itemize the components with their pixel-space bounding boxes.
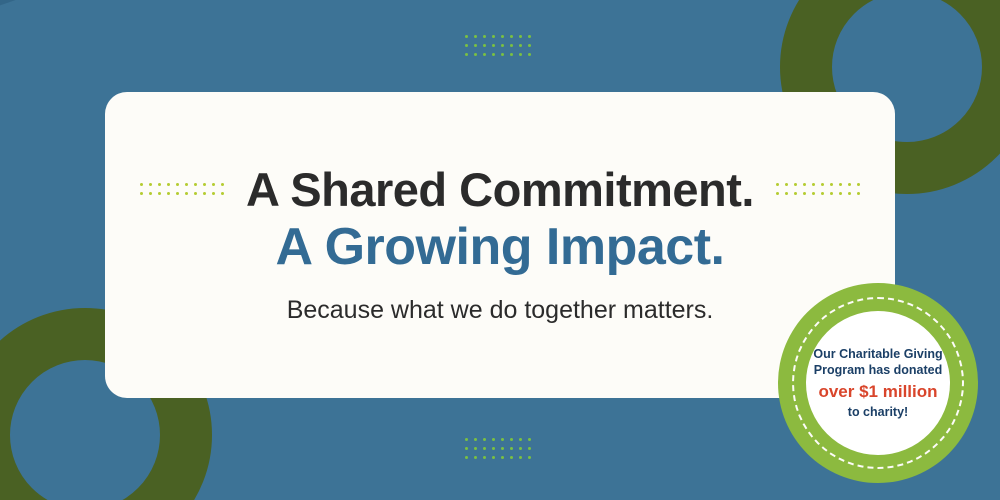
dot — [492, 456, 495, 459]
dot — [510, 35, 513, 38]
dot — [465, 53, 468, 56]
dot — [857, 192, 860, 195]
dot — [510, 438, 513, 441]
dot — [821, 192, 824, 195]
dot — [519, 44, 522, 47]
dot — [830, 192, 833, 195]
dot — [492, 44, 495, 47]
dot — [167, 192, 170, 195]
dot-ornament-right — [776, 183, 860, 195]
dot — [465, 447, 468, 450]
dot — [510, 447, 513, 450]
dot — [776, 192, 779, 195]
dot — [158, 183, 161, 186]
dot — [465, 44, 468, 47]
dot-grid-top — [465, 35, 531, 56]
dot — [474, 53, 477, 56]
dot — [857, 183, 860, 186]
dot — [839, 192, 842, 195]
dot-grid-bottom — [465, 438, 531, 459]
dot — [483, 456, 486, 459]
dot — [492, 438, 495, 441]
dot — [194, 192, 197, 195]
headline-primary-row: A Shared Commitment. — [105, 165, 895, 214]
dot — [528, 44, 531, 47]
headline-primary: A Shared Commitment. — [246, 165, 754, 214]
dot — [519, 35, 522, 38]
dot — [528, 447, 531, 450]
dot — [501, 44, 504, 47]
dot — [510, 456, 513, 459]
dot — [492, 447, 495, 450]
dot — [158, 192, 161, 195]
dot — [501, 438, 504, 441]
dot — [203, 183, 206, 186]
dot — [483, 438, 486, 441]
dot — [185, 183, 188, 186]
promotional-banner: A Shared Commitment. A Growing Impact. B… — [0, 0, 1000, 500]
charitable-giving-badge: Our Charitable Giving Program has donate… — [778, 283, 978, 483]
dot — [465, 35, 468, 38]
dot — [519, 438, 522, 441]
dot — [794, 192, 797, 195]
dot — [501, 53, 504, 56]
dot — [528, 53, 531, 56]
dot — [474, 44, 477, 47]
dot — [519, 447, 522, 450]
dot — [839, 183, 842, 186]
dot — [848, 183, 851, 186]
dot — [528, 456, 531, 459]
dot — [785, 183, 788, 186]
dot — [167, 183, 170, 186]
headline-card: A Shared Commitment. A Growing Impact. B… — [105, 92, 895, 398]
dot — [830, 183, 833, 186]
dot — [474, 456, 477, 459]
dot — [519, 53, 522, 56]
dot — [149, 183, 152, 186]
badge-line-four: to charity! — [848, 404, 908, 420]
dot — [501, 456, 504, 459]
dot — [483, 44, 486, 47]
dot — [474, 35, 477, 38]
dot — [803, 192, 806, 195]
dot — [528, 438, 531, 441]
dot — [528, 35, 531, 38]
dot — [821, 183, 824, 186]
dot — [465, 438, 468, 441]
badge-line-one: Our Charitable Giving — [813, 346, 942, 362]
dot — [140, 192, 143, 195]
dot — [848, 192, 851, 195]
dot — [510, 53, 513, 56]
dot — [812, 183, 815, 186]
dot — [776, 183, 779, 186]
dot — [194, 183, 197, 186]
badge-inner-disc: Our Charitable Giving Program has donate… — [806, 311, 950, 455]
dot — [203, 192, 206, 195]
dot — [812, 192, 815, 195]
dot-ornament-left — [140, 183, 224, 195]
dot — [492, 53, 495, 56]
dot — [176, 192, 179, 195]
dot — [794, 183, 797, 186]
dot — [510, 44, 513, 47]
dot — [474, 438, 477, 441]
dot — [501, 35, 504, 38]
dot — [465, 456, 468, 459]
badge-line-two: Program has donated — [814, 362, 943, 378]
dot — [140, 183, 143, 186]
dot — [492, 35, 495, 38]
dot — [221, 192, 224, 195]
dot — [221, 183, 224, 186]
dot — [483, 447, 486, 450]
dot — [519, 456, 522, 459]
dot — [483, 35, 486, 38]
dot — [785, 192, 788, 195]
dot — [185, 192, 188, 195]
subtitle: Because what we do together matters. — [287, 296, 714, 325]
dot — [803, 183, 806, 186]
dot — [212, 183, 215, 186]
headline-secondary: A Growing Impact. — [276, 220, 725, 275]
dot — [176, 183, 179, 186]
dot — [149, 192, 152, 195]
badge-amount-highlight: over $1 million — [818, 381, 937, 403]
dot — [474, 447, 477, 450]
dot — [483, 53, 486, 56]
dot — [501, 447, 504, 450]
dot — [212, 192, 215, 195]
